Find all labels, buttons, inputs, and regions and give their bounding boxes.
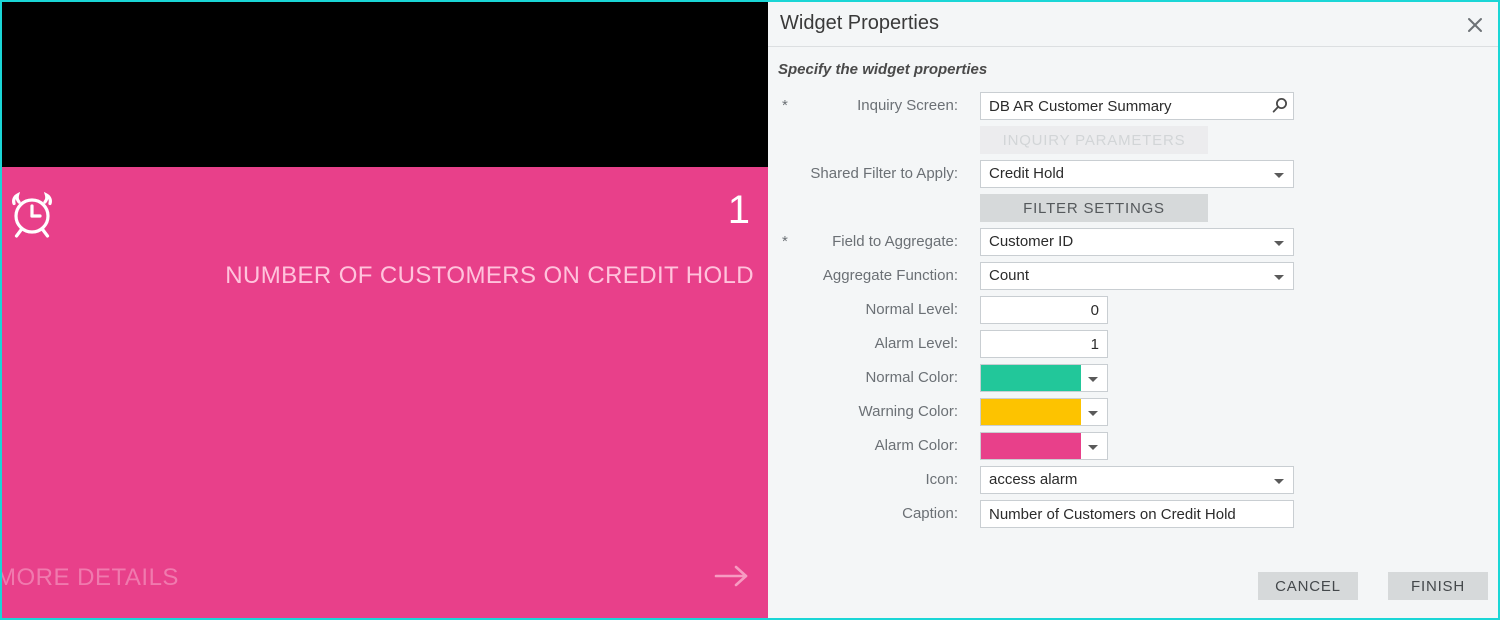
row-normal-color: Normal Color: <box>768 364 1498 398</box>
page-title: Widget Properties <box>780 12 939 35</box>
kpi-caption: NUMBER OF CUSTOMERS ON CREDIT HOLD <box>14 262 754 290</box>
panel-header: Widget Properties <box>768 2 1498 47</box>
row-aggregate-function: Aggregate Function: Count <box>768 262 1498 296</box>
search-icon[interactable] <box>1270 96 1290 116</box>
alarm-color-picker[interactable] <box>980 432 1108 460</box>
shared-filter-value: Credit Hold <box>989 165 1064 182</box>
row-caption: Caption: <box>768 500 1498 534</box>
chevron-down-icon <box>1274 275 1284 280</box>
chevron-down-icon <box>1088 377 1098 382</box>
caption-label: Caption: <box>768 500 958 528</box>
chevron-down-icon <box>1088 445 1098 450</box>
inquiry-parameters-button: INQUIRY PARAMETERS <box>980 126 1208 154</box>
widget-preview: 1 NUMBER OF CUSTOMERS ON CREDIT HOLD MOR… <box>2 2 768 618</box>
warning-color-picker[interactable] <box>980 398 1108 426</box>
normal-color-swatch <box>981 365 1081 391</box>
row-filter-settings: FILTER SETTINGS <box>768 194 1498 228</box>
row-shared-filter: Shared Filter to Apply: Credit Hold <box>768 160 1498 194</box>
arrow-right-icon[interactable] <box>712 560 752 592</box>
warning-color-swatch <box>981 399 1081 425</box>
normal-color-label: Normal Color: <box>768 364 958 392</box>
kpi-value: 1 <box>728 189 750 231</box>
row-icon: Icon: access alarm <box>768 466 1498 500</box>
properties-panel: Widget Properties Specify the widget pro… <box>768 2 1498 618</box>
alarm-level-input[interactable] <box>980 330 1108 358</box>
shared-filter-select[interactable]: Credit Hold <box>980 160 1294 188</box>
warning-color-label: Warning Color: <box>768 398 958 426</box>
aggregate-function-value: Count <box>989 267 1029 284</box>
panel-footer: CANCEL FINISH <box>768 562 1498 618</box>
field-to-aggregate-label: Field to Aggregate: <box>768 228 958 256</box>
row-field-to-aggregate: * Field to Aggregate: Customer ID <box>768 228 1498 262</box>
icon-label: Icon: <box>768 466 958 494</box>
alarm-clock-icon <box>8 189 56 241</box>
cancel-button[interactable]: CANCEL <box>1258 572 1358 600</box>
row-inquiry-screen: * Inquiry Screen: <box>768 92 1498 126</box>
chevron-down-icon <box>1274 173 1284 178</box>
icon-select[interactable]: access alarm <box>980 466 1294 494</box>
properties-form: * Inquiry Screen: <box>768 92 1498 534</box>
caption-input[interactable] <box>980 500 1294 528</box>
field-to-aggregate-select[interactable]: Customer ID <box>980 228 1294 256</box>
filter-settings-button[interactable]: FILTER SETTINGS <box>980 194 1208 222</box>
aggregate-function-select[interactable]: Count <box>980 262 1294 290</box>
widget-properties-window: 1 NUMBER OF CUSTOMERS ON CREDIT HOLD MOR… <box>0 0 1500 620</box>
row-warning-color: Warning Color: <box>768 398 1498 432</box>
close-icon[interactable] <box>1460 10 1490 40</box>
row-normal-level: Normal Level: <box>768 296 1498 330</box>
kpi-widget-card[interactable]: 1 NUMBER OF CUSTOMERS ON CREDIT HOLD MOR… <box>2 167 768 618</box>
panel-subtitle: Specify the widget properties <box>778 61 987 78</box>
row-inquiry-parameters: INQUIRY PARAMETERS <box>768 126 1498 160</box>
normal-color-picker[interactable] <box>980 364 1108 392</box>
preview-backdrop <box>2 2 768 167</box>
alarm-color-label: Alarm Color: <box>768 432 958 460</box>
chevron-down-icon <box>1274 479 1284 484</box>
row-alarm-color: Alarm Color: <box>768 432 1498 466</box>
normal-level-label: Normal Level: <box>768 296 958 324</box>
normal-level-input[interactable] <box>980 296 1108 324</box>
finish-button[interactable]: FINISH <box>1388 572 1488 600</box>
chevron-down-icon <box>1274 241 1284 246</box>
widget-footer[interactable]: MORE DETAILS <box>2 548 768 618</box>
chevron-down-icon <box>1088 411 1098 416</box>
more-details-label: MORE DETAILS <box>0 564 179 592</box>
row-alarm-level: Alarm Level: <box>768 330 1498 364</box>
shared-filter-label: Shared Filter to Apply: <box>768 160 958 188</box>
icon-value: access alarm <box>989 471 1077 488</box>
field-to-aggregate-value: Customer ID <box>989 233 1073 250</box>
alarm-level-label: Alarm Level: <box>768 330 958 358</box>
inquiry-screen-label: Inquiry Screen: <box>768 92 958 120</box>
aggregate-function-label: Aggregate Function: <box>768 262 958 290</box>
inquiry-screen-input[interactable] <box>980 92 1294 120</box>
alarm-color-swatch <box>981 433 1081 459</box>
